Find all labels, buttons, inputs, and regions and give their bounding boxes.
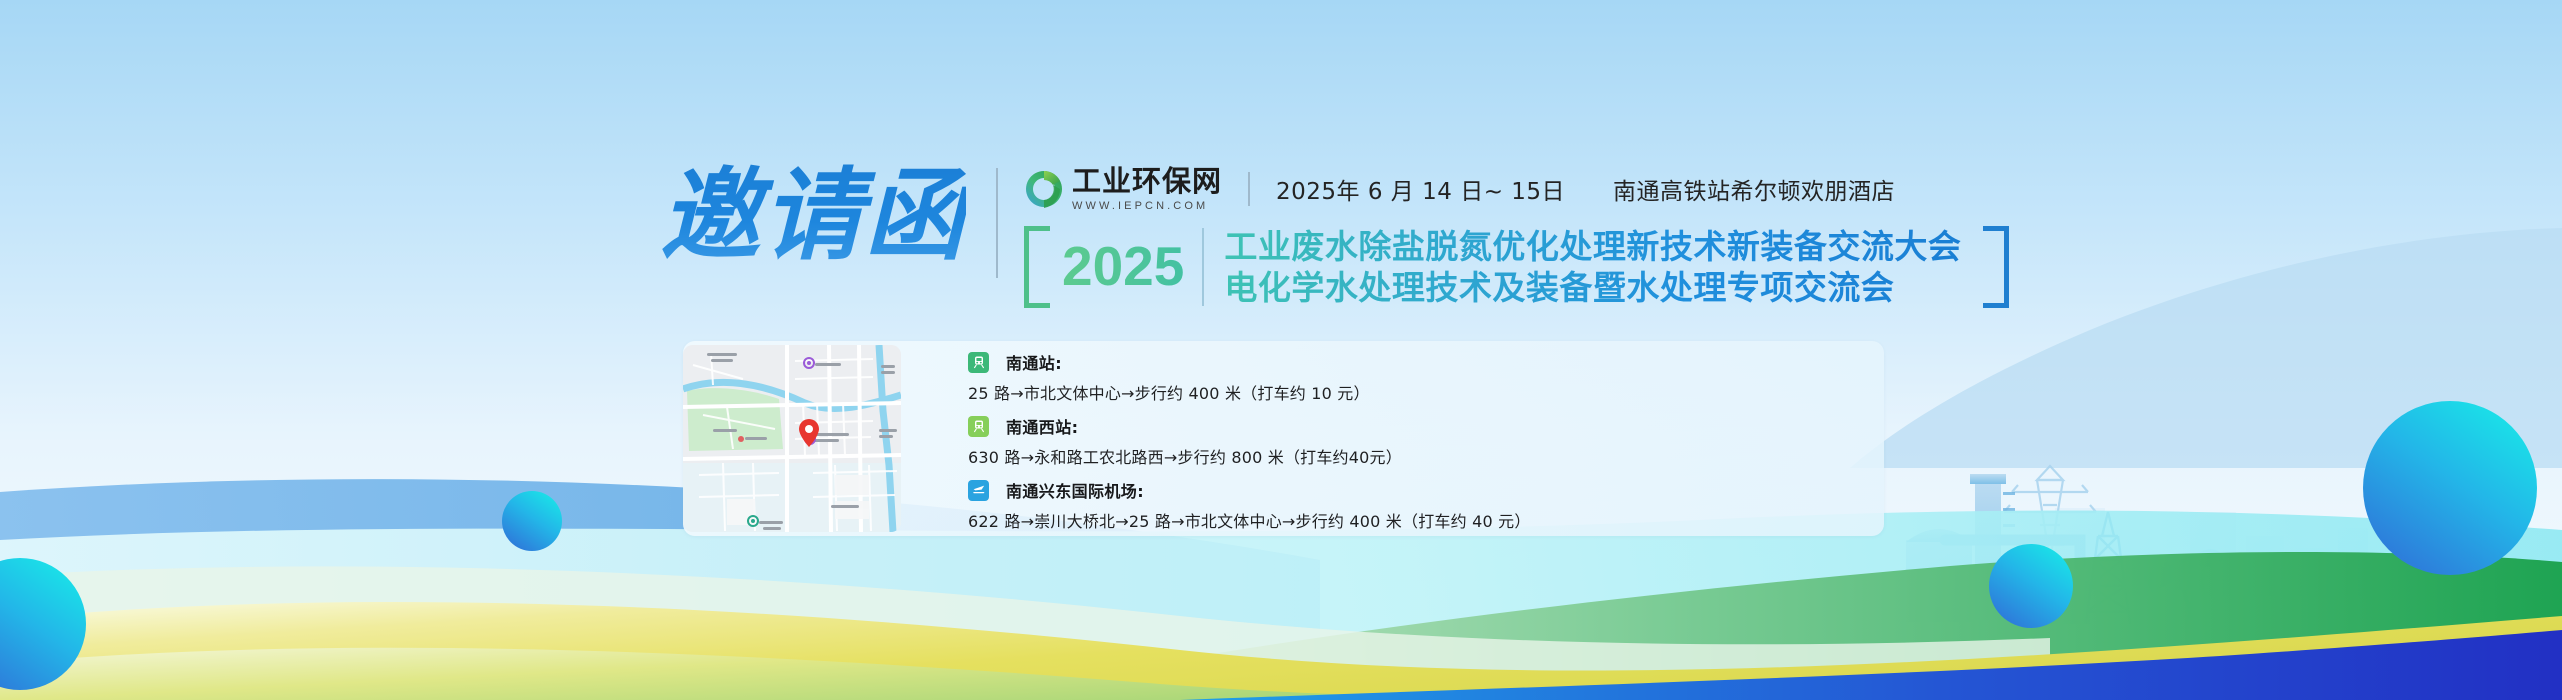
invitation-banner: 邀请函: [0, 0, 2562, 700]
location-map-thumbnail[interactable]: [683, 345, 901, 532]
decorative-ball: [2363, 401, 2537, 575]
meta-divider: [1248, 172, 1250, 206]
event-venue: 南通高铁站希尔顿欢朋酒店: [1613, 172, 1895, 206]
leaf-circle-logo-icon: [1024, 169, 1064, 209]
conference-title-line-2: 电化学水处理技术及装备暨水处理专项交流会: [1224, 267, 1961, 308]
route-name: 南通兴东国际机场:: [1006, 478, 1144, 502]
transport-info-panel: 南通站: 25 路→市北文体中心→步行约 400 米（打车约 10 元）: [683, 341, 1884, 536]
route-detail: 622 路→崇川大桥北→25 路→市北文体中心→步行约 400 米（打车约 40…: [968, 508, 1872, 532]
brand-name-cn: 工业环保网: [1072, 167, 1222, 196]
header-divider: [996, 168, 998, 278]
route-detail: 630 路→永和路工农北路西→步行约 800 米（打车约40元）: [968, 444, 1872, 468]
bracket-left-icon: [1024, 226, 1054, 308]
brand-url: WWW.IEPCN.COM: [1072, 200, 1222, 212]
route-item: 南通西站: 630 路→永和路工农北路西→步行约 800 米（打车约40元）: [968, 415, 1872, 468]
route-item: 南通站: 25 路→市北文体中心→步行约 400 米（打车约 10 元）: [968, 351, 1872, 404]
event-date: 2025年 6 月 14 日~ 15日: [1276, 172, 1565, 206]
route-name: 南通站:: [1006, 350, 1062, 374]
route-list: 南通站: 25 路→市北文体中心→步行约 400 米（打车约 10 元）: [968, 351, 1872, 528]
conference-title-line-1: 工业废水除盐脱氮优化处理新技术新装备交流大会: [1224, 226, 1961, 267]
route-detail: 25 路→市北文体中心→步行约 400 米（打车约 10 元）: [968, 380, 1872, 404]
decorative-ball: [1989, 544, 2073, 628]
decorative-ball: [502, 491, 562, 551]
train-station-icon: [968, 416, 989, 437]
airplane-icon: [968, 480, 989, 501]
brand-and-meta-row: 工业环保网 WWW.IEPCN.COM 2025年 6 月 14 日~ 15日 …: [1024, 166, 2009, 212]
banner-header: 邀请函: [660, 160, 2009, 308]
route-name: 南通西站:: [1006, 414, 1078, 438]
bracket-right-icon: [1979, 226, 2009, 308]
event-year: 2025: [1054, 226, 1202, 308]
brand-logo[interactable]: 工业环保网 WWW.IEPCN.COM: [1024, 167, 1222, 212]
conference-divider: [1202, 228, 1204, 306]
route-item: 南通兴东国际机场: 622 路→崇川大桥北→25 路→市北文体中心→步行约 40…: [968, 479, 1872, 532]
page-title: 邀请函: [660, 160, 966, 272]
train-station-icon: [968, 352, 989, 373]
conference-title-block: 2025 工业废水除盐脱氮优化处理新技术新装备交流大会 电化学水处理技术及装备暨…: [1024, 226, 2009, 308]
